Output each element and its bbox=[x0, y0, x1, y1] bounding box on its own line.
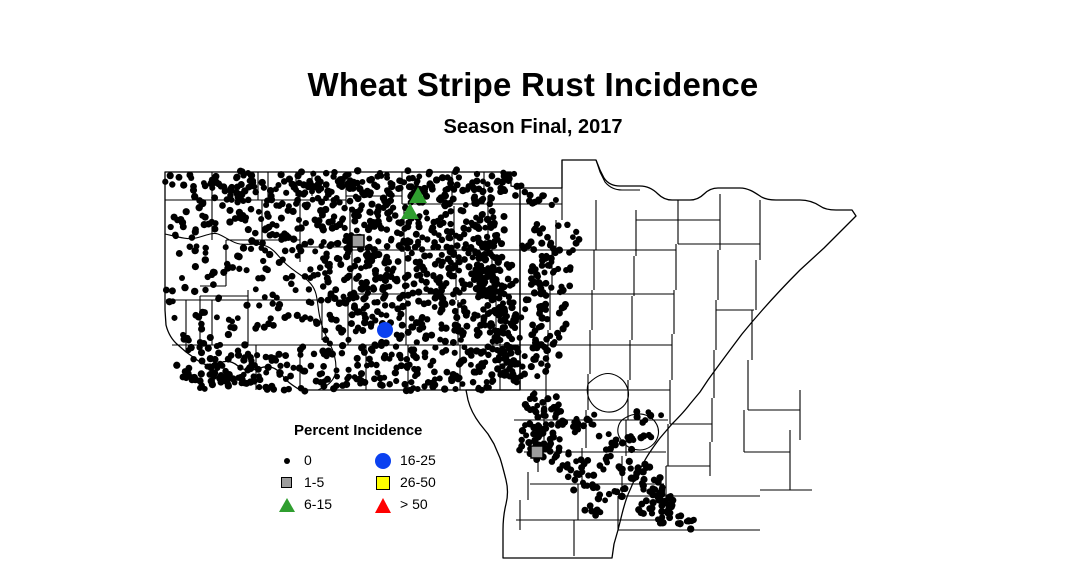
survey-point bbox=[312, 248, 318, 254]
survey-point bbox=[451, 186, 457, 192]
survey-point bbox=[393, 378, 399, 384]
survey-point bbox=[289, 181, 296, 188]
survey-point bbox=[619, 439, 626, 446]
survey-point bbox=[566, 283, 573, 290]
survey-point bbox=[487, 251, 493, 257]
survey-point bbox=[631, 476, 637, 482]
survey-point bbox=[456, 174, 462, 180]
survey-point bbox=[553, 197, 559, 203]
survey-point bbox=[552, 455, 558, 461]
survey-point bbox=[375, 213, 381, 219]
survey-point bbox=[532, 327, 539, 334]
survey-point bbox=[333, 382, 339, 388]
survey-point bbox=[538, 240, 545, 247]
survey-point bbox=[606, 431, 612, 437]
survey-point bbox=[519, 363, 525, 369]
survey-point bbox=[566, 449, 572, 455]
survey-point bbox=[354, 294, 360, 300]
survey-point bbox=[194, 243, 200, 249]
survey-point bbox=[453, 233, 459, 239]
survey-point bbox=[247, 378, 254, 385]
survey-point bbox=[270, 300, 276, 306]
survey-point bbox=[173, 362, 180, 369]
survey-point bbox=[382, 273, 388, 279]
survey-point bbox=[452, 308, 459, 315]
survey-point bbox=[285, 386, 291, 392]
survey-point bbox=[351, 302, 358, 309]
survey-point bbox=[390, 205, 396, 211]
survey-point bbox=[427, 288, 434, 295]
survey-point bbox=[377, 381, 384, 388]
survey-point bbox=[205, 345, 212, 352]
survey-point bbox=[410, 175, 416, 181]
survey-point bbox=[299, 344, 306, 351]
survey-point bbox=[530, 246, 537, 253]
survey-point bbox=[253, 286, 259, 292]
survey-point bbox=[176, 250, 183, 257]
survey-point bbox=[382, 302, 388, 308]
survey-point bbox=[687, 525, 694, 532]
survey-point bbox=[393, 343, 399, 349]
survey-point bbox=[353, 275, 360, 282]
survey-point bbox=[527, 407, 533, 413]
survey-point bbox=[512, 192, 519, 199]
survey-point bbox=[346, 273, 353, 280]
survey-point bbox=[581, 461, 588, 468]
survey-point bbox=[384, 210, 391, 217]
survey-point bbox=[468, 362, 474, 368]
survey-point bbox=[267, 232, 273, 238]
survey-point bbox=[547, 333, 553, 339]
survey-point bbox=[298, 224, 305, 231]
survey-point bbox=[190, 356, 196, 362]
survey-point bbox=[620, 486, 626, 492]
survey-point bbox=[210, 269, 217, 276]
survey-point bbox=[378, 312, 384, 318]
survey-point bbox=[470, 379, 477, 386]
survey-point bbox=[200, 199, 206, 205]
survey-point bbox=[293, 287, 299, 293]
survey-point bbox=[167, 172, 174, 179]
survey-point bbox=[388, 237, 394, 243]
survey-point bbox=[245, 170, 251, 176]
survey-point bbox=[181, 284, 188, 291]
survey-point bbox=[207, 371, 213, 377]
survey-point bbox=[163, 287, 170, 294]
survey-point bbox=[276, 301, 283, 308]
survey-point bbox=[555, 421, 561, 427]
survey-point bbox=[463, 202, 469, 208]
survey-point bbox=[363, 303, 370, 310]
survey-point bbox=[642, 417, 648, 423]
survey-point bbox=[628, 446, 635, 453]
survey-point bbox=[522, 189, 529, 196]
survey-point bbox=[468, 347, 475, 354]
survey-point bbox=[628, 465, 634, 471]
survey-point bbox=[529, 321, 536, 328]
survey-point bbox=[487, 322, 494, 329]
survey-point bbox=[218, 379, 225, 386]
survey-point bbox=[295, 190, 302, 197]
survey-point bbox=[389, 352, 395, 358]
survey-point bbox=[556, 466, 563, 473]
survey-point bbox=[438, 306, 445, 313]
survey-point bbox=[445, 234, 452, 241]
survey-point bbox=[405, 245, 412, 252]
survey-point bbox=[539, 399, 546, 406]
survey-point bbox=[326, 264, 332, 270]
survey-point bbox=[302, 273, 309, 280]
survey-point bbox=[509, 336, 515, 342]
survey-point bbox=[226, 371, 233, 378]
survey-point bbox=[277, 363, 283, 369]
survey-point bbox=[533, 339, 540, 346]
survey-point bbox=[345, 337, 351, 343]
survey-point bbox=[439, 252, 445, 258]
survey-point bbox=[322, 206, 329, 213]
survey-point bbox=[186, 365, 193, 372]
survey-point bbox=[484, 302, 491, 309]
survey-point bbox=[473, 178, 480, 185]
survey-point bbox=[408, 379, 414, 385]
survey-point bbox=[509, 373, 516, 380]
survey-point bbox=[303, 220, 309, 226]
survey-point bbox=[456, 375, 462, 381]
survey-point bbox=[339, 350, 345, 356]
survey-point bbox=[480, 211, 486, 217]
survey-point bbox=[396, 295, 403, 302]
survey-point bbox=[471, 195, 477, 201]
survey-point bbox=[500, 350, 507, 357]
survey-point bbox=[432, 304, 438, 310]
survey-point bbox=[640, 482, 647, 489]
survey-point bbox=[337, 256, 343, 262]
survey-point bbox=[355, 257, 361, 263]
survey-point bbox=[396, 335, 403, 342]
survey-point bbox=[331, 295, 338, 302]
survey-point bbox=[531, 289, 538, 296]
survey-point bbox=[634, 413, 641, 420]
survey-point bbox=[398, 231, 404, 237]
survey-point bbox=[596, 433, 603, 440]
survey-point bbox=[532, 225, 538, 231]
survey-point bbox=[270, 386, 277, 393]
survey-point bbox=[474, 332, 481, 339]
survey-point bbox=[386, 381, 393, 388]
survey-point bbox=[301, 368, 308, 375]
survey-point bbox=[339, 382, 346, 389]
survey-point bbox=[229, 264, 236, 271]
survey-point bbox=[401, 179, 407, 185]
survey-point bbox=[307, 238, 314, 245]
survey-point bbox=[209, 185, 215, 191]
survey-point bbox=[570, 234, 576, 240]
survey-point bbox=[334, 195, 340, 201]
survey-point bbox=[463, 323, 470, 330]
survey-point bbox=[366, 236, 372, 242]
survey-point bbox=[202, 256, 209, 263]
survey-point bbox=[214, 314, 220, 320]
survey-point bbox=[325, 297, 332, 304]
survey-point bbox=[377, 170, 383, 176]
survey-point bbox=[379, 286, 386, 293]
survey-point bbox=[458, 337, 464, 343]
survey-point bbox=[544, 363, 550, 369]
survey-point bbox=[641, 469, 647, 475]
survey-point bbox=[542, 301, 549, 308]
survey-point bbox=[405, 255, 412, 262]
survey-point bbox=[555, 222, 562, 229]
survey-point bbox=[363, 252, 369, 258]
survey-point bbox=[306, 299, 312, 305]
survey-point bbox=[573, 229, 579, 235]
survey-point bbox=[554, 330, 561, 337]
survey-point bbox=[321, 378, 327, 384]
survey-point bbox=[323, 181, 330, 188]
survey-point bbox=[540, 412, 547, 419]
survey-point bbox=[368, 176, 375, 183]
survey-point bbox=[254, 322, 261, 329]
survey-point bbox=[543, 355, 550, 362]
survey-point bbox=[270, 322, 277, 329]
survey-point bbox=[511, 171, 517, 177]
survey-point bbox=[227, 192, 233, 198]
survey-point bbox=[456, 259, 463, 266]
survey-point bbox=[517, 335, 523, 341]
survey-point bbox=[183, 208, 190, 215]
legend-label-2: 6-15 bbox=[304, 496, 332, 512]
survey-point bbox=[488, 194, 494, 200]
survey-point bbox=[590, 472, 597, 479]
survey-point bbox=[381, 375, 387, 381]
survey-point bbox=[184, 335, 190, 341]
survey-point bbox=[443, 347, 450, 354]
survey-point bbox=[404, 292, 411, 299]
survey-point bbox=[523, 296, 530, 303]
survey-point bbox=[509, 281, 516, 288]
survey-point bbox=[387, 198, 393, 204]
survey-point bbox=[367, 223, 374, 230]
survey-point bbox=[506, 265, 512, 271]
survey-point bbox=[463, 218, 470, 225]
survey-point bbox=[320, 283, 327, 290]
survey-point bbox=[372, 317, 378, 323]
survey-point bbox=[403, 387, 410, 394]
survey-point bbox=[506, 299, 513, 306]
survey-point bbox=[573, 240, 580, 247]
survey-point bbox=[361, 379, 368, 386]
survey-point bbox=[388, 183, 395, 190]
survey-point bbox=[259, 179, 266, 186]
survey-point bbox=[409, 315, 415, 321]
survey-point bbox=[476, 239, 483, 246]
survey-point bbox=[444, 244, 450, 250]
survey-point bbox=[367, 189, 374, 196]
survey-point bbox=[604, 454, 610, 460]
survey-point bbox=[415, 366, 421, 372]
survey-point bbox=[335, 324, 342, 331]
survey-point bbox=[202, 287, 208, 293]
survey-point bbox=[212, 356, 219, 363]
survey-point bbox=[304, 201, 311, 208]
survey-point bbox=[493, 310, 499, 316]
survey-point bbox=[378, 225, 385, 232]
survey-point bbox=[255, 366, 262, 373]
survey-point bbox=[354, 362, 361, 369]
survey-point bbox=[201, 221, 208, 228]
survey-point bbox=[489, 291, 496, 298]
survey-point bbox=[310, 171, 316, 177]
survey-point bbox=[445, 186, 452, 193]
survey-point bbox=[256, 302, 262, 308]
survey-point bbox=[348, 182, 354, 188]
survey-point bbox=[317, 264, 324, 271]
survey-point bbox=[439, 236, 446, 243]
survey-point bbox=[450, 291, 456, 297]
survey-point bbox=[265, 213, 271, 219]
survey-point bbox=[243, 302, 250, 309]
survey-point bbox=[415, 298, 422, 305]
survey-point bbox=[522, 353, 528, 359]
survey-point bbox=[564, 222, 570, 228]
survey-point bbox=[658, 412, 664, 418]
survey-point bbox=[489, 208, 496, 215]
survey-point bbox=[238, 215, 245, 222]
survey-point bbox=[241, 341, 248, 348]
survey-point bbox=[676, 520, 683, 527]
survey-point bbox=[170, 298, 176, 304]
legend-label-3: 16-25 bbox=[400, 452, 436, 468]
survey-point bbox=[454, 242, 461, 249]
survey-point bbox=[360, 284, 366, 290]
survey-point bbox=[441, 202, 447, 208]
survey-point bbox=[398, 219, 405, 226]
survey-point bbox=[492, 334, 499, 341]
survey-point bbox=[235, 352, 242, 359]
figure-canvas: Wheat Stripe Rust Incidence Season Final… bbox=[0, 0, 1066, 587]
survey-point bbox=[255, 275, 261, 281]
survey-point bbox=[169, 181, 175, 187]
survey-point bbox=[198, 370, 205, 377]
survey-point bbox=[549, 430, 556, 437]
survey-point bbox=[503, 368, 510, 375]
survey-point bbox=[439, 287, 445, 293]
survey-point bbox=[341, 205, 347, 211]
survey-point bbox=[225, 331, 232, 338]
survey-point bbox=[346, 367, 352, 373]
survey-point bbox=[347, 198, 354, 205]
survey-point bbox=[392, 370, 399, 377]
survey-point bbox=[212, 173, 219, 180]
survey-point bbox=[488, 371, 495, 378]
survey-point bbox=[173, 233, 179, 239]
survey-point bbox=[372, 276, 379, 283]
survey-point bbox=[192, 312, 199, 319]
survey-point bbox=[478, 198, 484, 204]
survey-point bbox=[354, 355, 361, 362]
survey-point bbox=[444, 228, 451, 235]
survey-point bbox=[368, 324, 374, 330]
survey-point bbox=[435, 244, 441, 250]
survey-point bbox=[381, 197, 388, 204]
survey-point bbox=[401, 226, 407, 232]
survey-point bbox=[419, 246, 425, 252]
survey-point bbox=[600, 466, 606, 472]
survey-point bbox=[240, 198, 246, 204]
survey-point bbox=[264, 198, 270, 204]
survey-point bbox=[495, 237, 501, 243]
survey-point bbox=[646, 463, 653, 470]
survey-point bbox=[375, 238, 381, 244]
survey-point bbox=[211, 225, 218, 232]
survey-point bbox=[216, 294, 223, 301]
survey-point bbox=[219, 202, 226, 209]
survey-point bbox=[446, 271, 453, 278]
survey-point bbox=[384, 226, 391, 233]
survey-point bbox=[470, 236, 476, 242]
survey-point bbox=[476, 279, 482, 285]
survey-point bbox=[489, 379, 495, 385]
survey-point bbox=[536, 424, 542, 430]
survey-point bbox=[289, 247, 295, 253]
survey-point bbox=[385, 190, 391, 196]
survey-point bbox=[536, 310, 543, 317]
survey-point bbox=[258, 216, 264, 222]
survey-point bbox=[422, 335, 429, 342]
survey-point bbox=[375, 251, 382, 258]
survey-point bbox=[406, 183, 413, 190]
survey-point bbox=[366, 209, 373, 216]
map-svg bbox=[0, 0, 1066, 587]
survey-point bbox=[427, 253, 433, 259]
survey-point bbox=[476, 267, 482, 273]
survey-point bbox=[358, 265, 364, 271]
survey-point bbox=[619, 466, 626, 473]
survey-point bbox=[485, 273, 492, 280]
survey-point bbox=[689, 518, 695, 524]
survey-point bbox=[339, 178, 345, 184]
survey-point bbox=[401, 237, 407, 243]
survey-point bbox=[317, 371, 324, 378]
survey-point bbox=[225, 381, 232, 388]
incidence-point-1-5 bbox=[352, 235, 364, 247]
survey-point bbox=[219, 363, 225, 369]
survey-point bbox=[565, 473, 572, 480]
survey-point bbox=[490, 214, 496, 220]
survey-point bbox=[320, 363, 327, 370]
survey-point bbox=[348, 320, 355, 327]
survey-point bbox=[438, 294, 445, 301]
survey-point bbox=[514, 361, 520, 367]
survey-point bbox=[237, 374, 244, 381]
survey-point bbox=[549, 259, 555, 265]
survey-point bbox=[437, 337, 443, 343]
survey-point bbox=[502, 324, 508, 330]
survey-point bbox=[487, 187, 493, 193]
survey-point bbox=[372, 267, 379, 274]
survey-point bbox=[256, 384, 262, 390]
survey-point bbox=[541, 269, 547, 275]
survey-point bbox=[333, 317, 340, 324]
legend-label-4: 26-50 bbox=[400, 474, 436, 490]
legend-label-1: 1-5 bbox=[304, 474, 324, 490]
survey-point bbox=[397, 311, 404, 318]
survey-point bbox=[331, 213, 337, 219]
survey-point bbox=[664, 508, 670, 514]
survey-point bbox=[548, 284, 554, 290]
survey-point bbox=[371, 375, 378, 382]
survey-point bbox=[248, 246, 254, 252]
